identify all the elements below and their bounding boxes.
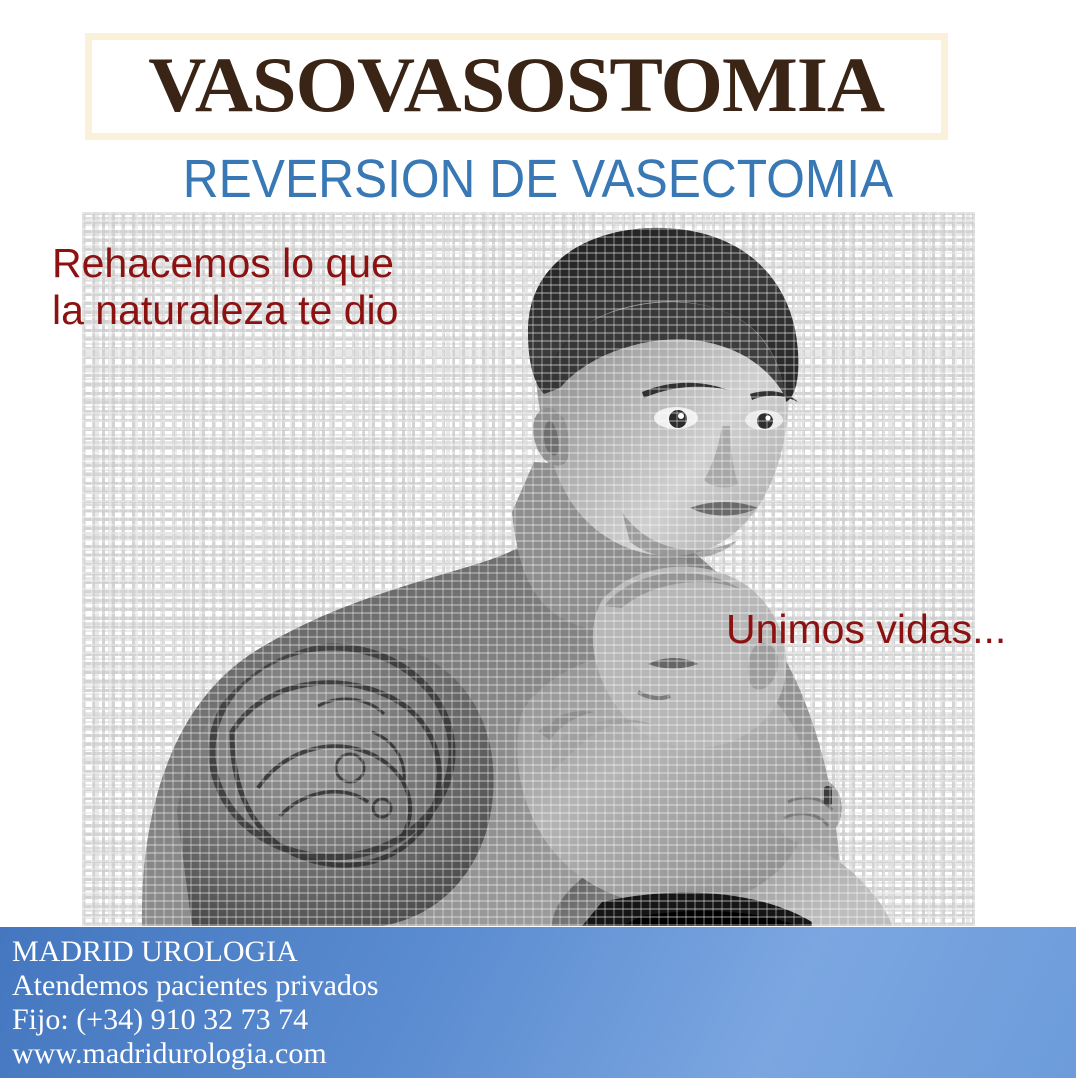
clinic-website[interactable]: www.madridurologia.com (12, 1037, 379, 1071)
tagline-right: Unimos vidas... (726, 606, 1006, 653)
clinic-name: MADRID UROLOGIA (12, 935, 379, 969)
contact-banner: MADRID UROLOGIA Atendemos pacientes priv… (0, 927, 1076, 1078)
clinic-phone[interactable]: Fijo: (+34) 910 32 73 74 (12, 1003, 379, 1037)
tagline-left-line1: Rehacemos lo que (52, 240, 394, 286)
page-title: VASOVASOSTOMIA (149, 46, 885, 124)
page-subtitle: REVERSION DE VASECTOMIA (43, 152, 1033, 206)
poster: VASOVASOSTOMIA REVERSION DE VASECTOMIA (0, 0, 1076, 1078)
title-box: VASOVASOSTOMIA (85, 33, 948, 140)
wedding-ring (824, 786, 832, 806)
clinic-note: Atendemos pacientes privados (12, 969, 379, 1003)
tagline-left: Rehacemos lo quela naturaleza te dio (52, 240, 398, 333)
contact-info: MADRID UROLOGIA Atendemos pacientes priv… (12, 935, 379, 1071)
tagline-left-line2: la naturaleza te dio (52, 287, 398, 333)
